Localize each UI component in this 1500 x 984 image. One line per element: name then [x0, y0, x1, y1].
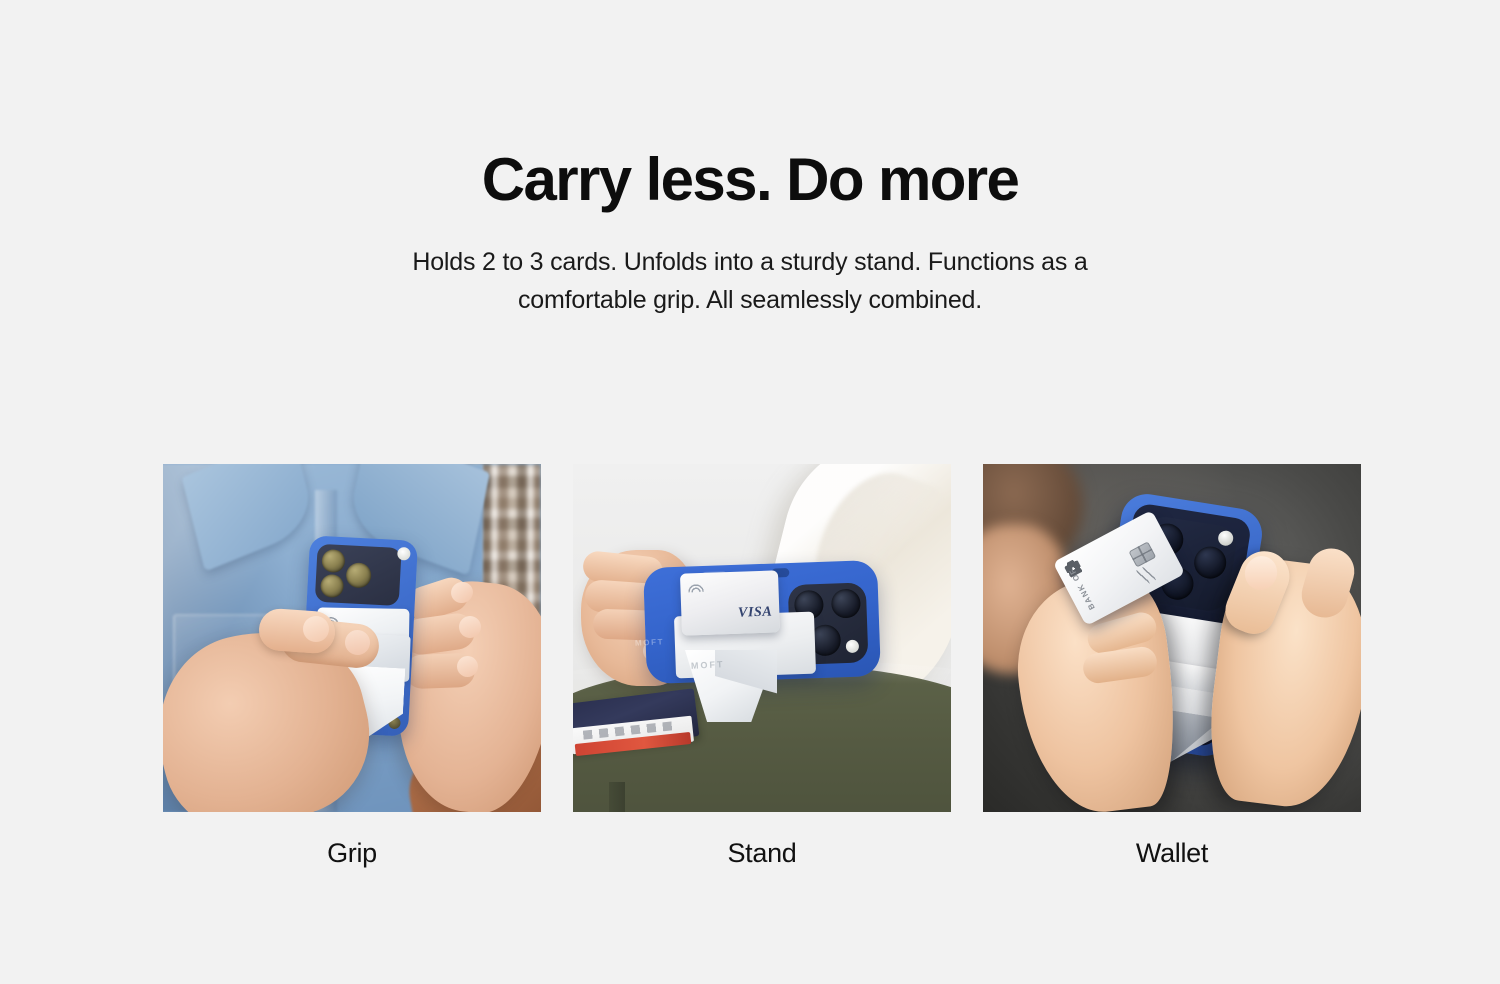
contactless-icon [688, 579, 703, 593]
camera-flash-icon [397, 547, 411, 561]
page-title: Carry less. Do more [0, 143, 1500, 217]
table-leg [609, 782, 625, 812]
feature-caption-stand: Stand [573, 836, 951, 870]
subtitle-line-2: comfortable grip. All seamlessly combine… [518, 286, 982, 314]
feature-card-stand[interactable]: VISA MOFT MOFT Stand [573, 464, 951, 870]
feature-caption-wallet: Wallet [983, 836, 1361, 870]
right-fingernail-2 [459, 616, 481, 638]
feature-photo-stand[interactable]: VISA MOFT MOFT [573, 464, 951, 812]
visa-logo: VISA [738, 605, 773, 622]
camera-module [315, 544, 402, 606]
camera-lens-2 [320, 574, 344, 598]
feature-caption-grip: Grip [163, 836, 541, 870]
camera-lens-2 [831, 589, 861, 619]
contactless-icon [1136, 563, 1159, 586]
feature-card-wallet[interactable]: BANK OF Wallet [983, 464, 1361, 870]
right-fingernail-3 [457, 656, 478, 677]
feature-gallery: VISA MOFT Grip [163, 464, 1361, 870]
camera-lens-3 [346, 562, 372, 588]
credit-card-visa: VISA [680, 570, 780, 635]
left-thumbnail [303, 616, 329, 642]
camera-lens-1 [321, 549, 345, 573]
moft-brand-mark-case: MOFT [635, 637, 664, 648]
section-subtitle: Holds 2 to 3 cards. Unfolds into a sturd… [370, 243, 1130, 319]
feature-photo-wallet[interactable]: BANK OF [983, 464, 1361, 812]
feature-photo-grip[interactable]: VISA MOFT [163, 464, 541, 812]
moft-brand-mark: MOFT [691, 659, 725, 671]
camera-lens-2 [1192, 544, 1229, 581]
subtitle-line-1: Holds 2 to 3 cards. Unfolds into a sturd… [412, 248, 1087, 276]
marketing-section: Carry less. Do more Holds 2 to 3 cards. … [0, 0, 1500, 984]
camera-flash-icon [846, 640, 859, 653]
emv-chip-detail [1128, 541, 1156, 567]
feature-card-grip[interactable]: VISA MOFT Grip [163, 464, 541, 870]
section-header: Carry less. Do more Holds 2 to 3 cards. … [0, 143, 1500, 319]
